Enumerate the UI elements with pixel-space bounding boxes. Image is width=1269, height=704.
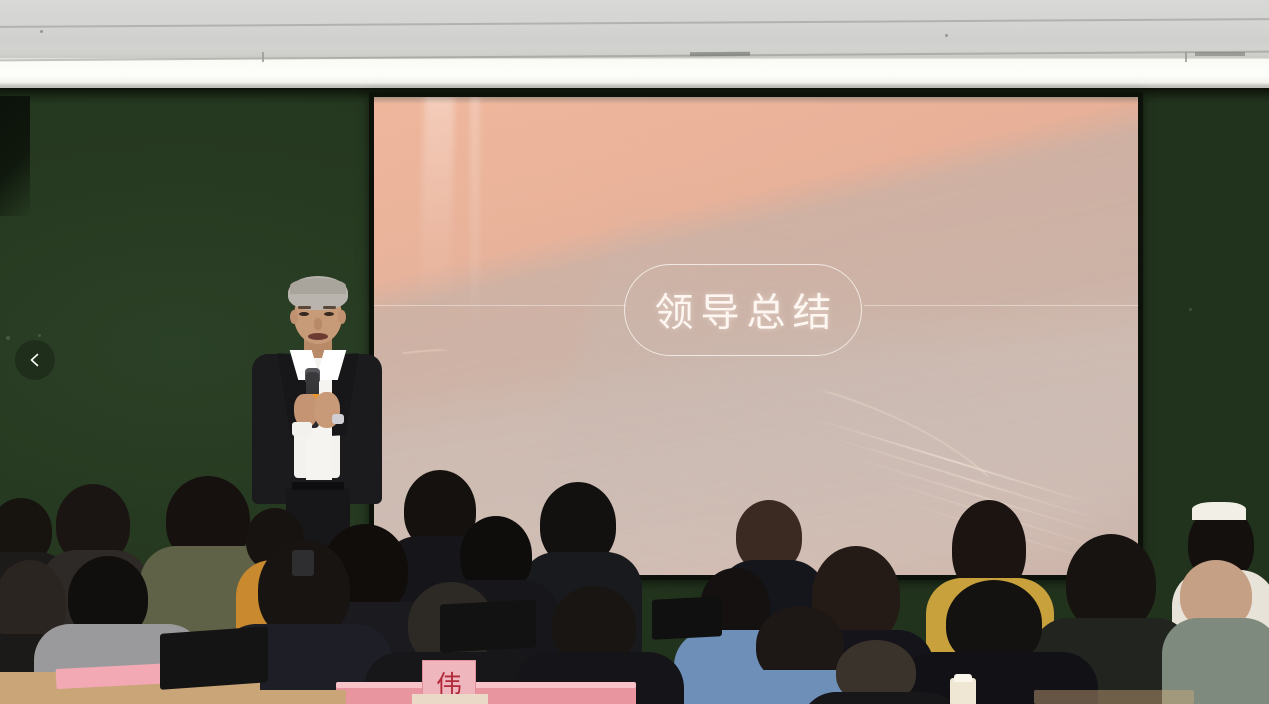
desk-front-center-edge bbox=[336, 682, 636, 688]
speaker-nose bbox=[314, 318, 322, 330]
laptop bbox=[440, 599, 536, 652]
placard-stand bbox=[412, 694, 488, 704]
ceiling-vent bbox=[1195, 52, 1245, 56]
ceiling-seam bbox=[0, 51, 1269, 62]
wall-speck bbox=[38, 334, 41, 337]
speaker-eyebrow bbox=[323, 306, 336, 309]
speaker-shirt-cuff bbox=[292, 422, 312, 436]
audience-headband bbox=[1192, 502, 1246, 520]
speaker-eye bbox=[299, 312, 309, 316]
wall-speck bbox=[6, 336, 10, 340]
speaker-ear bbox=[338, 310, 346, 324]
light-hanger bbox=[262, 52, 264, 62]
laptop bbox=[160, 626, 268, 690]
wall-corner-fixture bbox=[0, 96, 30, 216]
speaker-belt bbox=[292, 482, 344, 490]
ceiling-fixture-dot bbox=[40, 30, 43, 33]
speaker-wristwatch bbox=[332, 414, 344, 424]
audience-torso bbox=[800, 692, 962, 704]
water-bottle-cap bbox=[954, 674, 972, 682]
laptop bbox=[652, 596, 722, 640]
slide-title: 领导总结 bbox=[624, 264, 862, 356]
speaker-mouth bbox=[308, 333, 328, 340]
ceiling-seam bbox=[0, 18, 1269, 28]
desk-surface bbox=[1034, 690, 1194, 704]
ceiling bbox=[0, 0, 1269, 96]
speaker-eye bbox=[324, 312, 334, 316]
conference-room-scene: 领导总结 bbox=[0, 0, 1269, 704]
desk-surface bbox=[226, 690, 346, 704]
chevron-left-icon bbox=[26, 351, 44, 369]
wall-speck bbox=[1189, 308, 1192, 311]
prev-slide-button[interactable] bbox=[15, 340, 55, 380]
light-hanger bbox=[1185, 52, 1187, 62]
speaker-hair-highlight bbox=[290, 278, 346, 294]
ceiling-vent bbox=[690, 52, 750, 56]
speaker-ear bbox=[290, 310, 298, 324]
ceiling-fixture-dot bbox=[945, 34, 948, 37]
speaker-eyebrow bbox=[298, 306, 311, 309]
cup bbox=[292, 550, 314, 576]
